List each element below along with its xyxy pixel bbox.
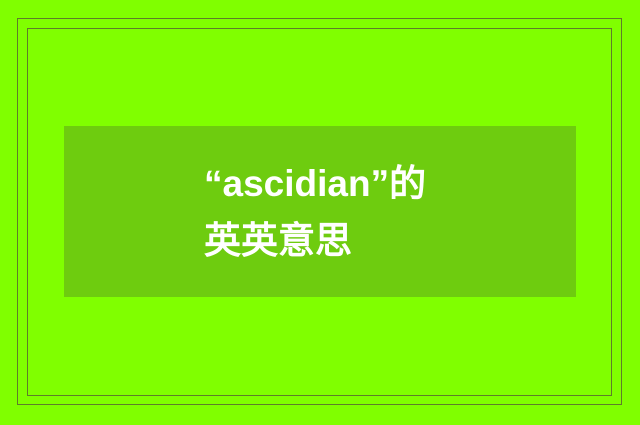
page-title: “ascidian”的英英意思 xyxy=(204,155,454,269)
title-panel: “ascidian”的英英意思 xyxy=(64,126,576,297)
title-card: “ascidian”的英英意思 xyxy=(0,0,640,425)
